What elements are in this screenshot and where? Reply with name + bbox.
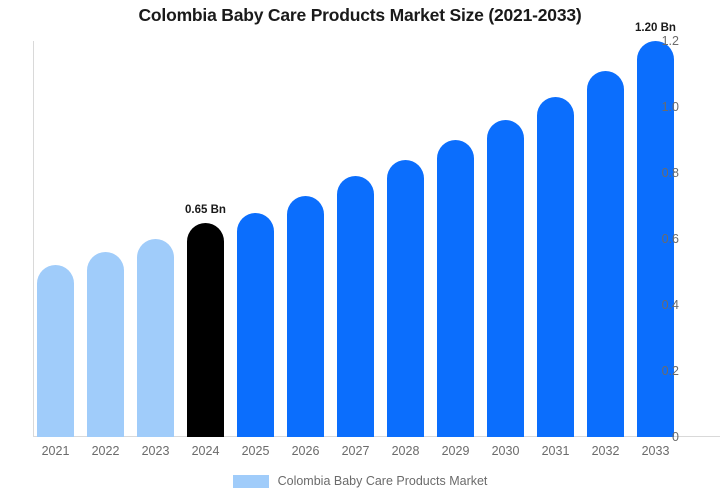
- legend-label-colombia-baby-care-products-market: Colombia Baby Care Products Market: [278, 474, 488, 488]
- bar-chart: Colombia Baby Care Products Market Size …: [0, 0, 720, 500]
- plot-area: [33, 41, 720, 437]
- bar-value-label-2024: 0.65 Bn: [171, 204, 241, 216]
- bar-2025[interactable]: [237, 213, 274, 437]
- y-axis-tick-0.8: 0.8: [639, 166, 679, 180]
- y-axis-tick-0: 0: [639, 430, 679, 444]
- y-axis-tick-1.0: 1.0: [639, 100, 679, 114]
- legend-swatch-colombia-baby-care-products-market: [233, 475, 269, 488]
- bar-2021[interactable]: [37, 265, 74, 437]
- y-axis-tick-1.2: 1.2: [639, 34, 679, 48]
- y-axis-tick-0.4: 0.4: [639, 298, 679, 312]
- bar-2026[interactable]: [287, 196, 324, 437]
- bar-2028[interactable]: [387, 160, 424, 437]
- bar-2027[interactable]: [337, 176, 374, 437]
- bar-value-label-2033: 1.20 Bn: [621, 22, 691, 34]
- y-axis-tick-0.2: 0.2: [639, 364, 679, 378]
- y-axis-tick-0.6: 0.6: [639, 232, 679, 246]
- bar-2022[interactable]: [87, 252, 124, 437]
- bar-2031[interactable]: [537, 97, 574, 437]
- chart-title: Colombia Baby Care Products Market Size …: [0, 5, 720, 26]
- bar-2024[interactable]: [187, 223, 224, 438]
- bar-2030[interactable]: [487, 120, 524, 437]
- x-axis-tick-2033: 2033: [621, 444, 691, 458]
- bar-2032[interactable]: [587, 71, 624, 437]
- bar-2029[interactable]: [437, 140, 474, 437]
- chart-legend: Colombia Baby Care Products Market: [0, 474, 720, 488]
- y-axis-line: [33, 41, 34, 437]
- bar-2023[interactable]: [137, 239, 174, 437]
